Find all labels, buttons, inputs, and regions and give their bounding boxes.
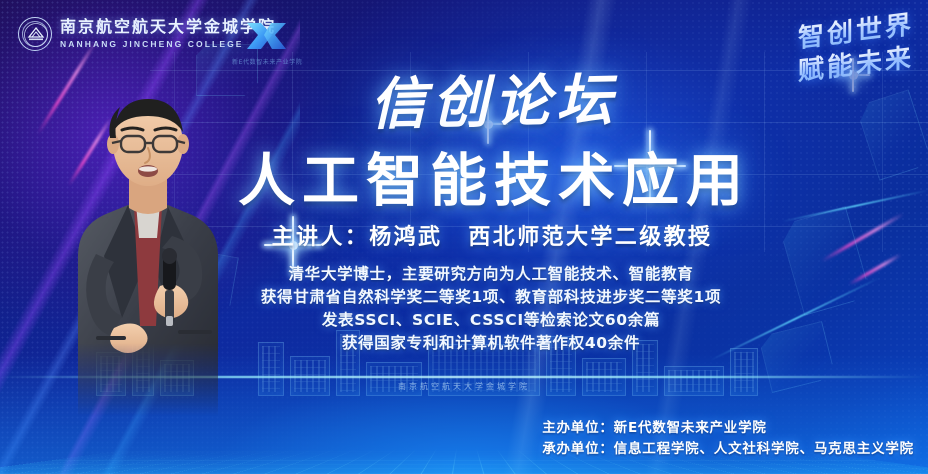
event-poster: 南京航空航天大学金城学院 NANHANG JINCHENG COLLEGE 新E… <box>0 0 928 474</box>
host-unit: 主办单位：新E代数智未来产业学院 <box>542 418 914 439</box>
campus-watermark: 南京航空航天大学金城学院 <box>0 381 928 392</box>
speaker-affiliation: 西北师范大学二级教授 <box>468 225 712 250</box>
x-mark-icon <box>245 20 289 52</box>
speaker-photo <box>22 86 254 416</box>
industry-college-logo: 新E代数智未来产业学院 <box>232 20 302 66</box>
speaker-name: 杨鸿武 <box>369 225 442 250</box>
school-crest-icon <box>18 17 52 51</box>
organizers: 主办单位：新E代数智未来产业学院 承办单位：信息工程学院、人文社科学院、马克思主… <box>542 418 914 460</box>
organizer-unit: 承办单位：信息工程学院、人文社科学院、马克思主义学院 <box>542 439 914 460</box>
speaker-label: 主讲人： <box>272 225 370 250</box>
